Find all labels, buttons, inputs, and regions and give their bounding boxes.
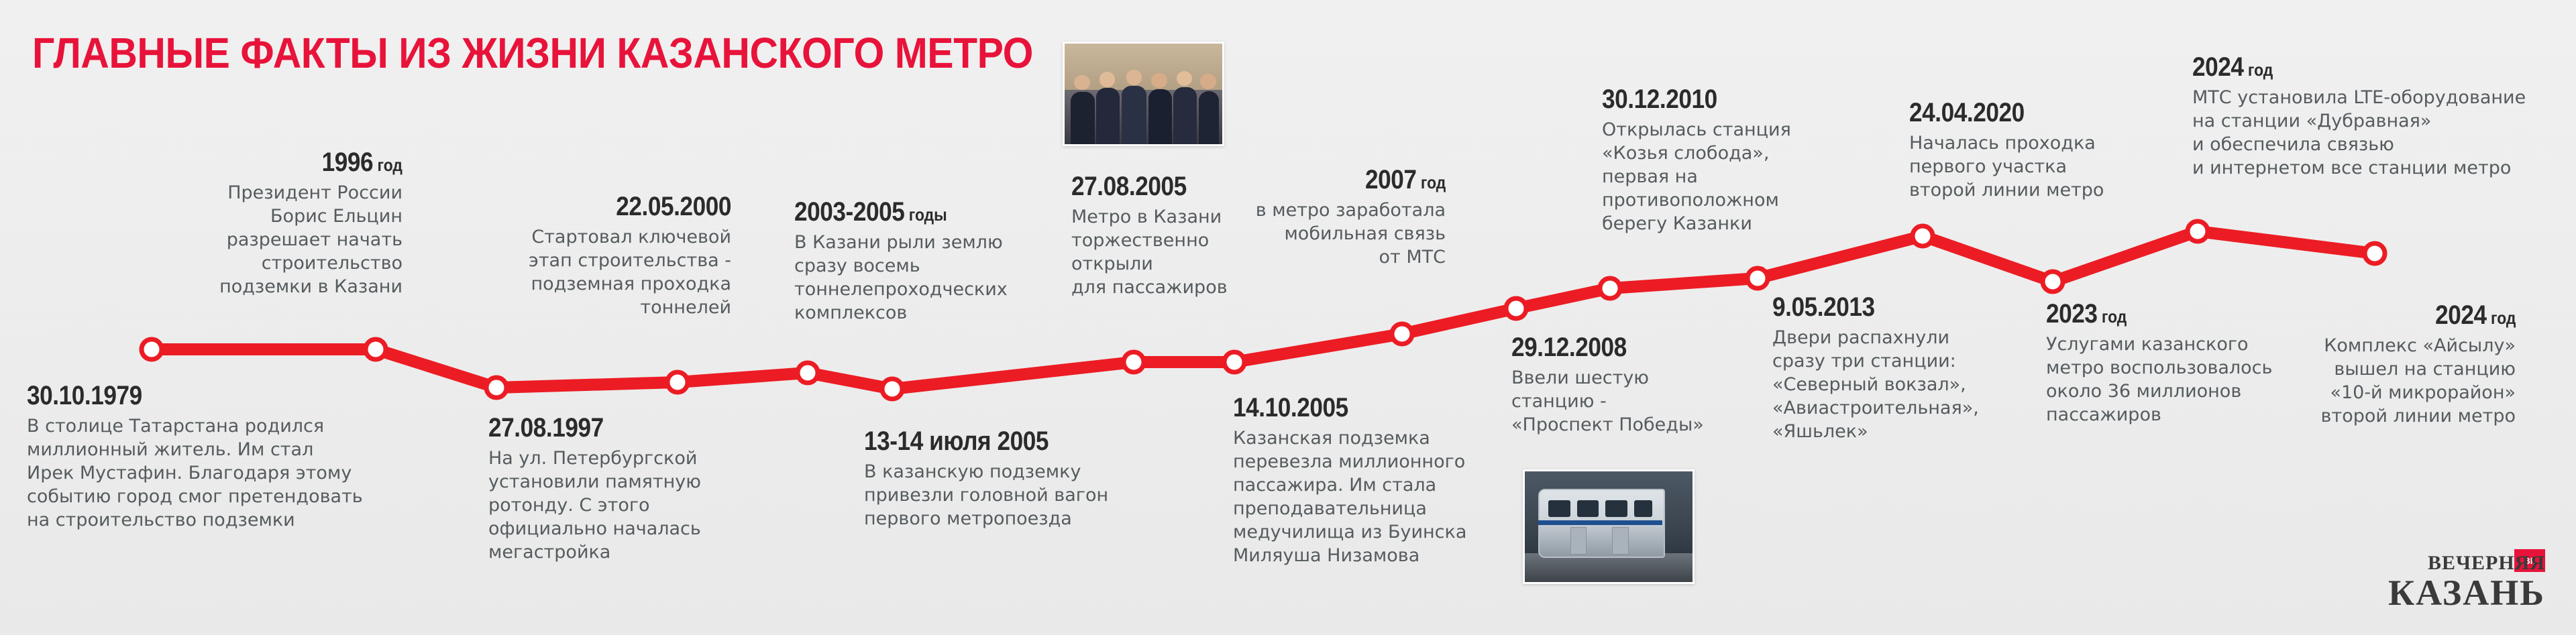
timeline-node-8[interactable]: [1392, 324, 1412, 344]
fact-date-7: 14.10.2005: [1233, 394, 1439, 422]
fact-body-0: В столице Татарстана родился миллионный …: [27, 414, 363, 532]
fact-body-5: В казанскую подземку привезли головной в…: [864, 460, 1108, 530]
fact-body-11: Двери распахнули сразу три станции: «Сев…: [1772, 326, 1979, 443]
fact-block-10: 30.12.2010Открылась станция «Козья слобо…: [1602, 86, 1791, 235]
fact-block-2: 27.08.1997На ул. Петербургской установил…: [488, 414, 701, 564]
fact-date-unit-4: годы: [904, 205, 947, 225]
fact-body-6: Метро в Казани торжественно открыли для …: [1071, 205, 1228, 299]
fact-body-3: Стартовал ключевой этап строительства - …: [529, 225, 731, 319]
fact-block-8: 2007 годв метро заработала мобильная свя…: [1256, 166, 1446, 269]
fact-body-7: Казанская подземка перевезла миллионного…: [1233, 426, 1466, 568]
fact-body-10: Открылась станция «Козья слобода», перва…: [1602, 118, 1791, 235]
fact-body-13: Услугами казанского метро воспользовалос…: [2046, 333, 2272, 426]
fact-date-12: 24.04.2020: [1909, 99, 2081, 127]
fact-date-2: 27.08.1997: [488, 414, 676, 442]
fact-date-4: 2003-2005 годы: [794, 198, 982, 226]
fact-block-1: 1996 годПрезидент России Борис Ельцин ра…: [219, 149, 402, 298]
fact-block-6: 27.08.2005Метро в Казани торжественно от…: [1071, 173, 1228, 299]
fact-body-9: Ввели шестую станцию - «Проспект Победы»: [1511, 366, 1704, 437]
fact-block-0: 30.10.1979В столице Татарстана родился м…: [27, 382, 363, 532]
fact-body-2: На ул. Петербургской установили памятную…: [488, 447, 701, 564]
fact-date-11: 9.05.2013: [1772, 294, 1954, 321]
fact-block-12: 24.04.2020Началась проходка первого учас…: [1909, 99, 2104, 202]
fact-block-7: 14.10.2005Казанская подземка перевезла м…: [1233, 394, 1466, 567]
fact-date-13: 2023 год: [2046, 300, 2245, 328]
fact-date-unit-1: год: [373, 155, 402, 175]
fact-body-4: В Казани рыли землю сразу восемь тоннеле…: [794, 231, 1008, 325]
fact-body-14: МТС установила LTE-оборудование на станц…: [2192, 86, 2526, 180]
fact-date-9: 29.12.2008: [1511, 334, 1680, 361]
metro-train-photo: [1523, 469, 1695, 584]
timeline-node-11[interactable]: [1748, 268, 1768, 288]
timeline-node-15[interactable]: [2365, 243, 2385, 264]
fact-date-3: 22.05.2000: [553, 193, 731, 221]
timeline-node-5[interactable]: [882, 379, 902, 399]
fact-block-9: 29.12.2008Ввели шестую станцию - «Проспе…: [1511, 334, 1704, 437]
fact-block-15: 2024 годКомплекс «Айсылу» вышел на станц…: [2321, 302, 2516, 428]
fact-date-8: 2007 год: [1279, 166, 1446, 194]
fact-date-unit-8: год: [1416, 172, 1446, 192]
fact-date-5: 13-14 июля 2005: [864, 428, 1079, 455]
fact-block-5: 13-14 июля 2005В казанскую подземку прив…: [864, 428, 1108, 530]
timeline-node-14[interactable]: [2188, 221, 2208, 241]
publisher-logo: ВК ВЕЧЕРНЯЯ КАЗАНЬ: [2344, 549, 2545, 616]
fact-block-14: 2024 годМТС установила LTE-оборудование …: [2192, 54, 2526, 180]
fact-block-4: 2003-2005 годыВ Казани рыли землю сразу …: [794, 198, 1008, 325]
infographic-page: ГЛАВНЫЕ ФАКТЫ ИЗ ЖИЗНИ КАЗАНСКОГО МЕТРО: [0, 0, 2576, 635]
timeline-node-3[interactable]: [667, 372, 688, 392]
logo-line1: ВЕЧЕРНЯЯ: [2428, 553, 2545, 573]
fact-date-unit-13: год: [2098, 306, 2127, 327]
timeline-node-4[interactable]: [798, 363, 818, 383]
timeline-node-6[interactable]: [1124, 352, 1144, 372]
fact-block-11: 9.05.2013Двери распахнули сразу три стан…: [1772, 294, 1979, 443]
timeline-node-2[interactable]: [486, 378, 506, 398]
page-title: ГЛАВНЫЕ ФАКТЫ ИЗ ЖИЗНИ КАЗАНСКОГО МЕТРО: [32, 28, 1033, 78]
timeline-node-12[interactable]: [1913, 226, 1933, 246]
fact-body-8: в метро заработала мобильная связь от МТ…: [1256, 198, 1446, 269]
fact-body-1: Президент России Борис Ельцин разрешает …: [219, 181, 402, 298]
fact-date-15: 2024 год: [2344, 302, 2516, 329]
fact-body-12: Началась проходка первого участка второй…: [1909, 131, 2104, 202]
fact-date-14: 2024 год: [2192, 54, 2486, 81]
fact-body-15: Комплекс «Айсылу» вышел на станцию «10-й…: [2321, 334, 2516, 428]
timeline-node-1[interactable]: [366, 339, 386, 359]
timeline-node-13[interactable]: [2043, 272, 2063, 292]
fact-date-10: 30.12.2010: [1602, 86, 1768, 113]
timeline-node-9[interactable]: [1506, 298, 1526, 319]
fact-date-unit-14: год: [2244, 60, 2273, 80]
fact-date-1: 1996 год: [241, 149, 402, 176]
fact-date-unit-15: год: [2486, 308, 2516, 328]
officials-photo: [1063, 42, 1224, 146]
timeline-node-0[interactable]: [142, 339, 162, 359]
fact-block-13: 2023 годУслугами казанского метро воспол…: [2046, 300, 2272, 426]
timeline-node-10[interactable]: [1600, 278, 1620, 298]
logo-line2: КАЗАНЬ: [2388, 575, 2545, 611]
fact-date-0: 30.10.1979: [27, 382, 323, 410]
fact-date-6: 27.08.2005: [1071, 173, 1209, 200]
timeline-node-7[interactable]: [1224, 352, 1244, 372]
fact-block-3: 22.05.2000Стартовал ключевой этап строит…: [529, 193, 731, 319]
